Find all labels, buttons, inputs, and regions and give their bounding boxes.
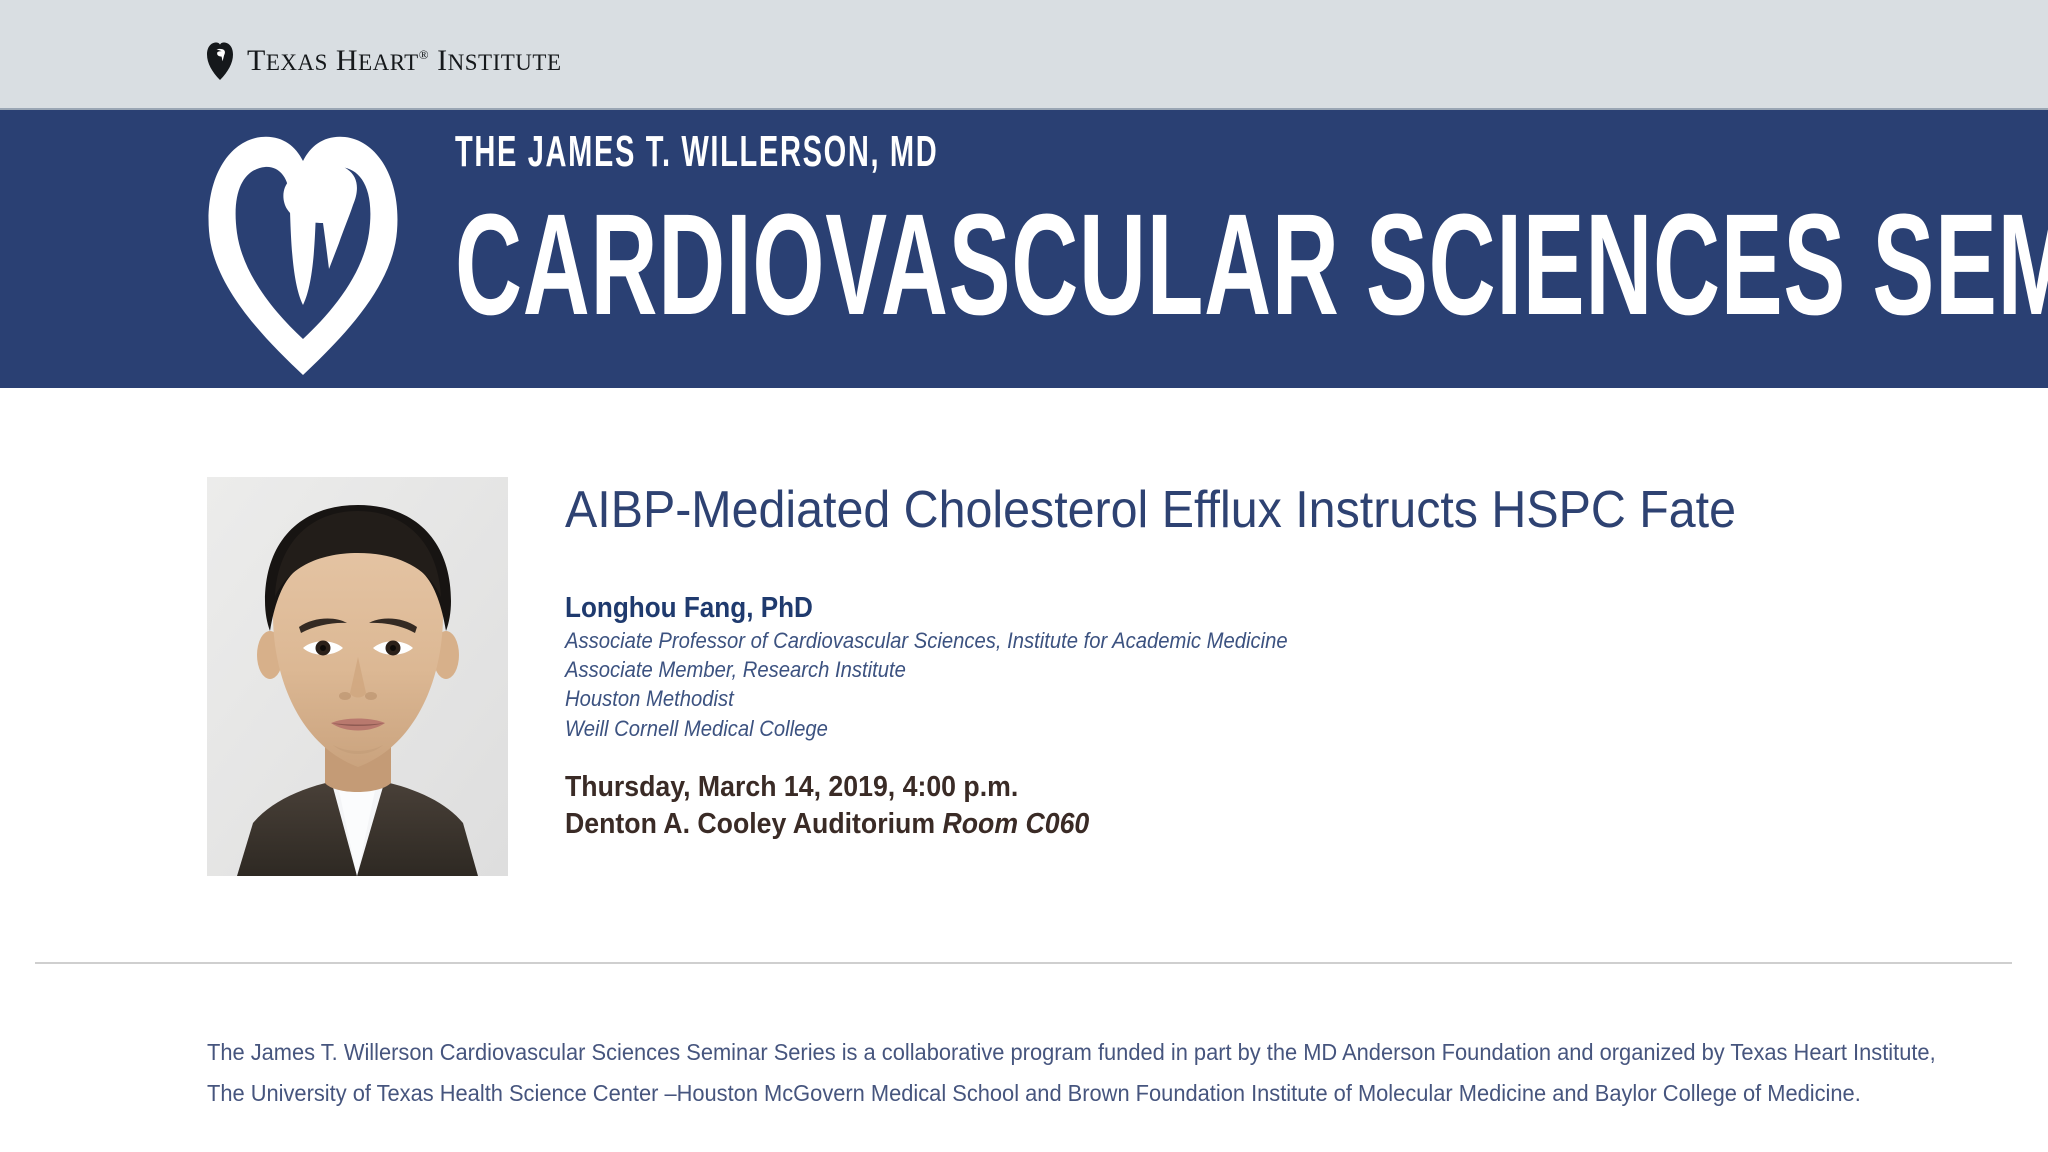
seminar-location: Denton A. Cooley Auditorium Room C060: [565, 806, 1761, 843]
speaker-affiliation-4: Weill Cornell Medical College: [565, 714, 1761, 743]
seminar-details: AIBP-Mediated Cholesterol Efflux Instruc…: [565, 476, 1865, 843]
top-brand-bar: TEXAS HEART® INSTITUTE: [0, 0, 2048, 110]
venue-name: Denton A. Cooley Auditorium: [565, 808, 935, 840]
speaker-portrait: [207, 477, 508, 876]
speaker-affiliation-3: Houston Methodist: [565, 684, 1761, 713]
seminar-main-content: AIBP-Mediated Cholesterol Efflux Instruc…: [0, 388, 2048, 962]
seminar-datetime: Thursday, March 14, 2019, 4:00 p.m.: [565, 769, 1761, 806]
talk-title: AIBP-Mediated Cholesterol Efflux Instruc…: [565, 476, 1774, 545]
footer-line-1: The James T. Willerson Cardiovascular Sc…: [207, 1032, 1822, 1073]
when-where-block: Thursday, March 14, 2019, 4:00 p.m. Dent…: [565, 769, 1865, 843]
footer-disclaimer: The James T. Willerson Cardiovascular Sc…: [207, 1032, 1907, 1114]
seminar-banner: THE JAMES T. WILLERSON, MD CARDIOVASCULA…: [0, 110, 2048, 388]
banner-heart-logo-icon: [203, 127, 403, 377]
thi-logo: TEXAS HEART® INSTITUTE: [207, 42, 562, 80]
thi-heart-logo-white: [203, 127, 403, 377]
footer-line-2: The University of Texas Health Science C…: [207, 1073, 1822, 1114]
speaker-affiliation-1: Associate Professor of Cardiovascular Sc…: [565, 626, 1761, 655]
thi-wordmark: TEXAS HEART® INSTITUTE: [247, 46, 562, 76]
thi-heart-icon: [207, 42, 233, 80]
speaker-name: Longhou Fang, PhD: [565, 591, 1735, 626]
footer-divider: [35, 962, 2012, 964]
banner-text-block: THE JAMES T. WILLERSON, MD CARDIOVASCULA…: [455, 130, 1955, 339]
room-number: Room C060: [942, 808, 1089, 840]
portrait-photo-icon: [207, 477, 508, 876]
speaker-affiliation-2: Associate Member, Research Institute: [565, 655, 1761, 684]
banner-eyebrow: THE JAMES T. WILLERSON, MD: [455, 130, 1445, 174]
banner-title: CARDIOVASCULAR SCIENCES SEMINAR: [455, 192, 1423, 339]
speaker-block: Longhou Fang, PhD Associate Professor of…: [565, 591, 1865, 743]
